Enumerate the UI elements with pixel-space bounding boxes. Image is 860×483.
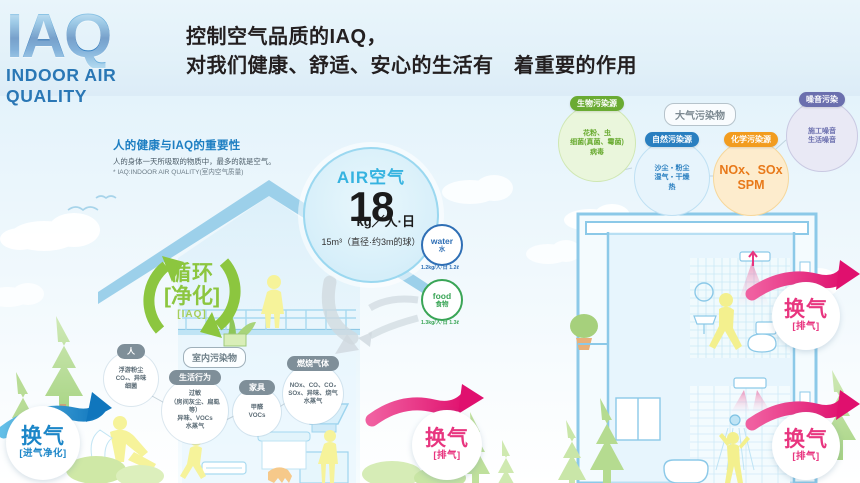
source-noise: 噪音污染 施工噪音生活噪音	[786, 100, 858, 172]
atmospheric-pollutant-label: 大气污染物	[664, 103, 736, 126]
indoor-source-person: 人 浮游粉尘CO₂、异味细菌	[104, 352, 158, 406]
food-amount: 1.3kg/人·日 1.3ℓ	[410, 320, 470, 326]
intro-title: 人的健康与IAQ的重要性	[113, 137, 328, 153]
indoor-source-combustion: 燃烧气体 NOx、CO、CO₂SOx、异味、烧气水蒸气	[283, 364, 343, 424]
water-label-en: water	[431, 237, 453, 246]
indoor-source-furniture-tag: 家具	[239, 380, 275, 395]
bath-room	[664, 378, 790, 483]
ventilation-intake-line-2: [进气净化]	[19, 448, 66, 460]
intro-block: 人的健康与IAQ的重要性 人的身体一天所吸取的物质中，最多的就是空气。 * IA…	[113, 137, 328, 177]
infographic-canvas: IAQ INDOOR AIR QUALITY 控制空气品质的IAQ， 对我们健康…	[0, 0, 860, 483]
food-label-cn: 食物	[436, 301, 449, 308]
person-balcony	[261, 275, 284, 328]
circulation-line-2: [净化]	[143, 285, 241, 308]
indoor-source-furniture-body: 甲醛VOCs	[246, 404, 269, 420]
source-noise-tag: 噪音污染	[799, 92, 845, 107]
potted-plant-right	[570, 314, 598, 350]
header-banner: IAQ INDOOR AIR QUALITY 控制空气品质的IAQ， 对我们健康…	[0, 0, 860, 96]
circulation-badge: 循环 [净化] [IAQ]	[143, 246, 241, 344]
source-noise-body: 施工噪音生活噪音	[804, 127, 840, 146]
source-biological-tag: 生物污染源	[570, 96, 624, 111]
source-biological: 生物污染源 花粉、虫细菌(真菌、霉菌)病毒	[558, 104, 636, 182]
air-note: 15m³（直径·约3m的球）	[305, 235, 437, 248]
dog-icon	[268, 467, 292, 483]
ventilation-bath-line-1: 换气	[784, 429, 828, 451]
intro-line-2: * IAQ:INDOOR AIR QUALITY(室内空气质量)	[113, 168, 328, 177]
logo-main-text: IAQ	[6, 6, 196, 68]
air-unit: kg／人·日	[356, 211, 415, 230]
bird-icon	[68, 196, 116, 210]
source-natural-body: 沙尘・粉尘湿气・干燥热	[651, 164, 694, 193]
intro-line-1: 人的身体一天所吸取的物质中，最多的就是空气。	[113, 157, 328, 167]
indoor-source-person-body: 浮游粉尘CO₂、异味细菌	[113, 367, 150, 392]
ventilation-badge-toilet: 换气 [排气]	[772, 282, 840, 350]
circulation-line-1: 循环	[143, 262, 241, 285]
indoor-source-furniture: 家具 甲醛VOCs	[233, 388, 281, 436]
source-natural-tag: 自然污染源	[645, 132, 699, 147]
air-volume-circle: AIR空气 18 kg／人·日 15m³（直径·约3m的球）	[303, 147, 439, 283]
indoor-source-behavior-tag: 生活行为	[169, 370, 221, 385]
ventilation-toilet-line-1: 换气	[784, 299, 828, 321]
indoor-source-combustion-tag: 燃烧气体	[287, 356, 339, 371]
circulation-line-3: [IAQ]	[143, 308, 241, 322]
ventilation-intake-line-1: 换气	[21, 426, 65, 448]
water-label-cn: 水	[439, 246, 446, 253]
ventilation-badge-bath: 换气 [排气]	[772, 412, 840, 480]
indoor-pollutant-label: 室内污染物	[183, 347, 246, 368]
indoor-source-behavior: 生活行为 过敏（房间灰尘、扁虱等）异味、VOCs水蒸气	[162, 378, 228, 444]
ventilation-kitchen-line-1: 换气	[425, 428, 469, 450]
ventilation-bath-line-2: [排气]	[792, 451, 819, 463]
source-chemical-tag: 化学污染源	[724, 132, 778, 147]
ventilation-badge-kitchen: 换气 [排气]	[412, 410, 482, 480]
iaq-logo: IAQ INDOOR AIR QUALITY	[6, 6, 196, 94]
ventilation-kitchen-line-2: [排气]	[433, 450, 460, 462]
water-intake-circle: water 水	[421, 224, 463, 266]
indoor-source-behavior-body: 过敏（房间灰尘、扁虱等）异味、VOCs水蒸气	[162, 390, 228, 431]
source-chemical-body: NOx、SOxSPM	[715, 163, 786, 193]
page-title: 控制空气品质的IAQ， 对我们健康、舒适、安心的生活有 着重要的作用	[186, 23, 846, 81]
source-natural: 自然污染源 沙尘・粉尘湿气・干燥热	[634, 140, 710, 216]
logo-subtitle: INDOOR AIR QUALITY	[6, 65, 196, 107]
headline-line-1: 控制空气品质的IAQ，	[186, 26, 387, 48]
indoor-source-person-tag: 人	[117, 344, 145, 359]
headline-line-2: 对我们健康、舒适、安心的生活有 着重要的作用	[186, 52, 846, 81]
food-intake-circle: food 食物	[421, 279, 463, 321]
indoor-source-combustion-body: NOx、CO、CO₂SOx、异味、烧气水蒸气	[285, 382, 341, 407]
source-chemical: 化学污染源 NOx、SOxSPM	[713, 140, 789, 216]
source-biological-body: 花粉、虫细菌(真菌、霉菌)病毒	[566, 129, 628, 158]
ventilation-toilet-line-2: [排气]	[792, 321, 819, 333]
bush	[66, 456, 164, 483]
ventilation-badge-intake: 换气 [进气净化]	[6, 406, 80, 480]
water-amount: 1.2kg/人·日 1.2ℓ	[410, 265, 470, 271]
food-label-en: food	[433, 292, 451, 301]
